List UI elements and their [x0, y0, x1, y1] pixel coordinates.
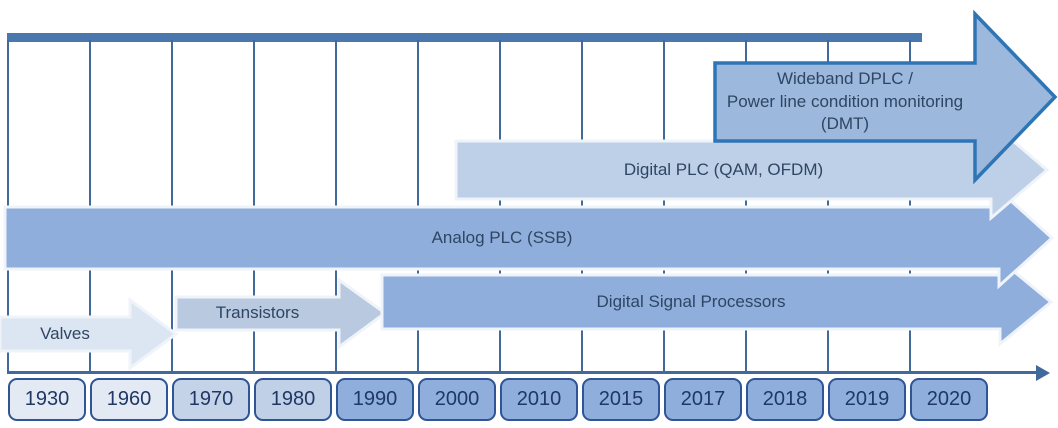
- timeline-diagram: Valves Transistors Digital Signal Proces…: [0, 0, 1058, 428]
- band-transistors: Transistors: [176, 279, 388, 348]
- timeline-axis-arrowhead: [1036, 365, 1050, 381]
- year-label: 2017: [681, 388, 726, 411]
- year-box-2015[interactable]: 2015: [582, 378, 660, 421]
- year-box-2018[interactable]: 2018: [746, 378, 824, 421]
- year-box-2000[interactable]: 2000: [418, 378, 496, 421]
- year-label: 1960: [107, 388, 152, 411]
- year-label: 1980: [271, 388, 316, 411]
- year-box-2017[interactable]: 2017: [664, 378, 742, 421]
- year-box-1990[interactable]: 1990: [336, 378, 414, 421]
- year-box-1980[interactable]: 1980: [254, 378, 332, 421]
- year-label: 2018: [763, 388, 808, 411]
- year-label: 1970: [189, 388, 234, 411]
- year-box-2019[interactable]: 2019: [828, 378, 906, 421]
- year-label: 2020: [927, 388, 972, 411]
- year-label: 2019: [845, 388, 890, 411]
- year-box-1970[interactable]: 1970: [172, 378, 250, 421]
- band-valves: Valves: [0, 300, 178, 368]
- timeline-axis-line: [7, 371, 1042, 374]
- year-box-1930[interactable]: 1930: [8, 378, 86, 421]
- year-label: 1990: [353, 388, 398, 411]
- year-box-1960[interactable]: 1960: [90, 378, 168, 421]
- year-label: 2010: [517, 388, 562, 411]
- year-box-2010[interactable]: 2010: [500, 378, 578, 421]
- band-wideband-dplc: Wideband DPLC / Power line condition mon…: [713, 12, 1058, 182]
- year-label: 1930: [25, 388, 70, 411]
- year-label: 2000: [435, 388, 480, 411]
- year-box-2020[interactable]: 2020: [910, 378, 988, 421]
- year-label: 2015: [599, 388, 644, 411]
